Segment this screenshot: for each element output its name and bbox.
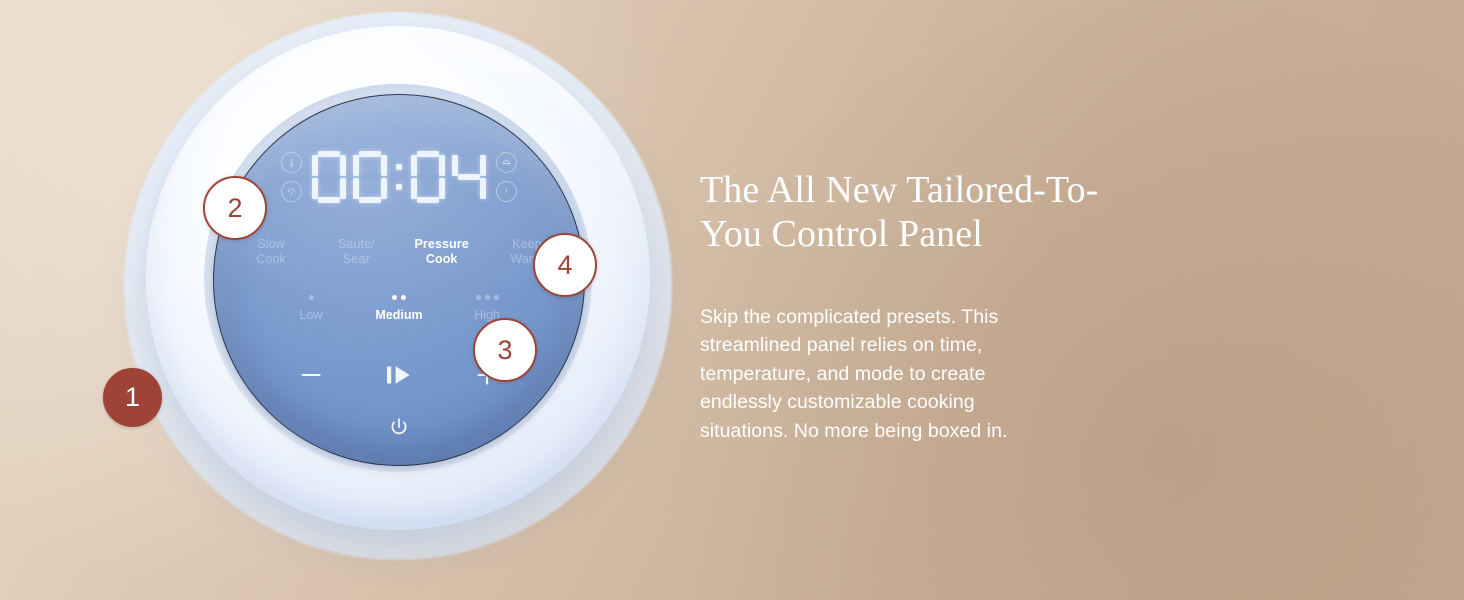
alert-icon [496,181,517,202]
callout-badge-1[interactable]: 1 [103,368,162,427]
mode-saute-sear[interactable]: Saute/ Sear [319,237,393,268]
callout-badge-4[interactable]: 4 [533,233,597,297]
left-indicator-column [281,152,302,202]
level-medium-dots [362,295,436,303]
body-paragraph: Skip the complicated presets. This strea… [700,303,1068,445]
digit-hours-tens [312,151,346,203]
level-low[interactable]: Low [274,295,348,323]
mode-row: Slow Cook Saute/ Sear Pressure Cook Keep… [234,237,564,268]
level-medium-label: Medium [362,308,436,323]
promo-banner: Slow Cook Saute/ Sear Pressure Cook Keep… [0,0,1464,600]
steam-release-icon [281,181,302,202]
callout-badge-3[interactable]: 3 [473,318,537,382]
level-medium[interactable]: Medium [362,295,436,323]
time-display [312,151,486,203]
level-low-label: Low [274,308,348,323]
page-title: The All New Tailored-To-You Control Pane… [700,168,1130,257]
right-indicator-column [496,152,517,202]
digit-minutes-ones [452,151,486,203]
display-row [214,151,584,203]
power-row [214,413,584,443]
level-low-dots [274,295,348,303]
digit-minutes-tens [411,151,445,203]
level-high-dots [450,295,524,303]
colon-separator [395,151,403,203]
appliance-illustration: Slow Cook Saute/ Sear Pressure Cook Keep… [118,4,678,580]
power-button[interactable] [384,413,414,443]
mode-slow-cook[interactable]: Slow Cook [234,237,308,268]
copy-block: The All New Tailored-To-You Control Pane… [700,168,1130,445]
thermometer-icon [281,152,302,173]
minus-button[interactable] [291,355,331,395]
mode-pressure-cook[interactable]: Pressure Cook [405,237,479,268]
control-panel[interactable]: Slow Cook Saute/ Sear Pressure Cook Keep… [213,94,585,466]
digit-hours-ones [353,151,387,203]
lid-lock-icon [496,152,517,173]
callout-badge-2[interactable]: 2 [203,176,267,240]
start-pause-button[interactable] [379,355,419,395]
level-row: Low Medium High [274,295,524,323]
